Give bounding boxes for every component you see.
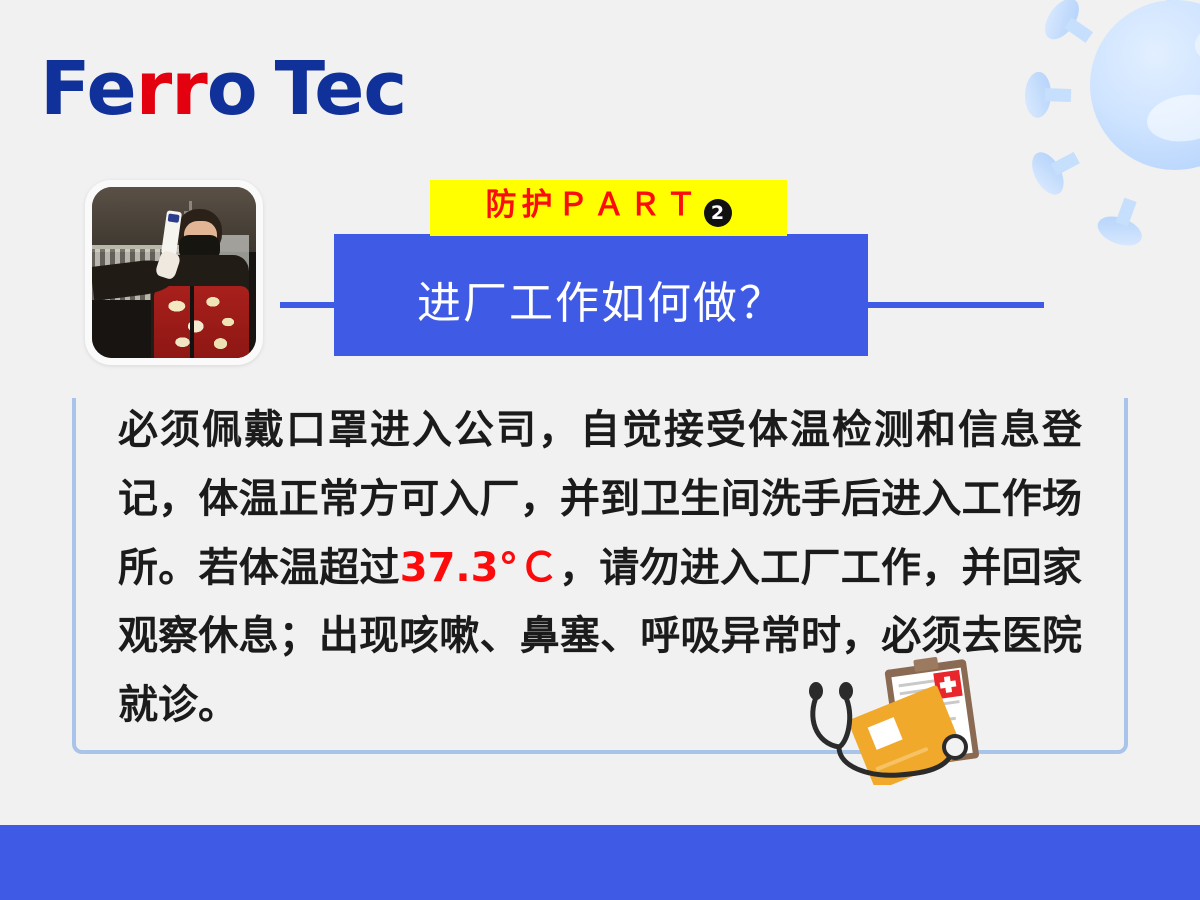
stethoscope-clipboard-icon [795, 655, 1010, 785]
headline-text: 进厂工作如何做？ [417, 264, 785, 326]
part-banner: 防护ＰＡＲＴ2 [430, 180, 787, 236]
coronavirus-icon [1030, 0, 1200, 230]
footer-bar [0, 825, 1200, 900]
logo-text-accent: rr [136, 46, 207, 132]
temperature-check-photo [85, 180, 263, 365]
part-label: 防护ＰＡＲＴ [486, 187, 702, 223]
logo-text-a: Fe [40, 46, 136, 132]
logo-text-b: o [207, 46, 257, 132]
headline-rule-left [280, 302, 338, 308]
logo-text-c: Tec [275, 46, 407, 132]
headline-banner: 进厂工作如何做？ [334, 234, 868, 356]
part-number-badge: 2 [704, 199, 732, 227]
temperature-threshold: 37.3°Ｃ [400, 545, 559, 591]
headline-rule-right [864, 302, 1044, 308]
part-label-wrap: 防护ＰＡＲＴ2 [486, 190, 732, 227]
slide-canvas: FerroTec 进厂工作如何做？ 防护ＰＡＲ [0, 0, 1200, 900]
ferrotec-logo: FerroTec [40, 52, 406, 126]
